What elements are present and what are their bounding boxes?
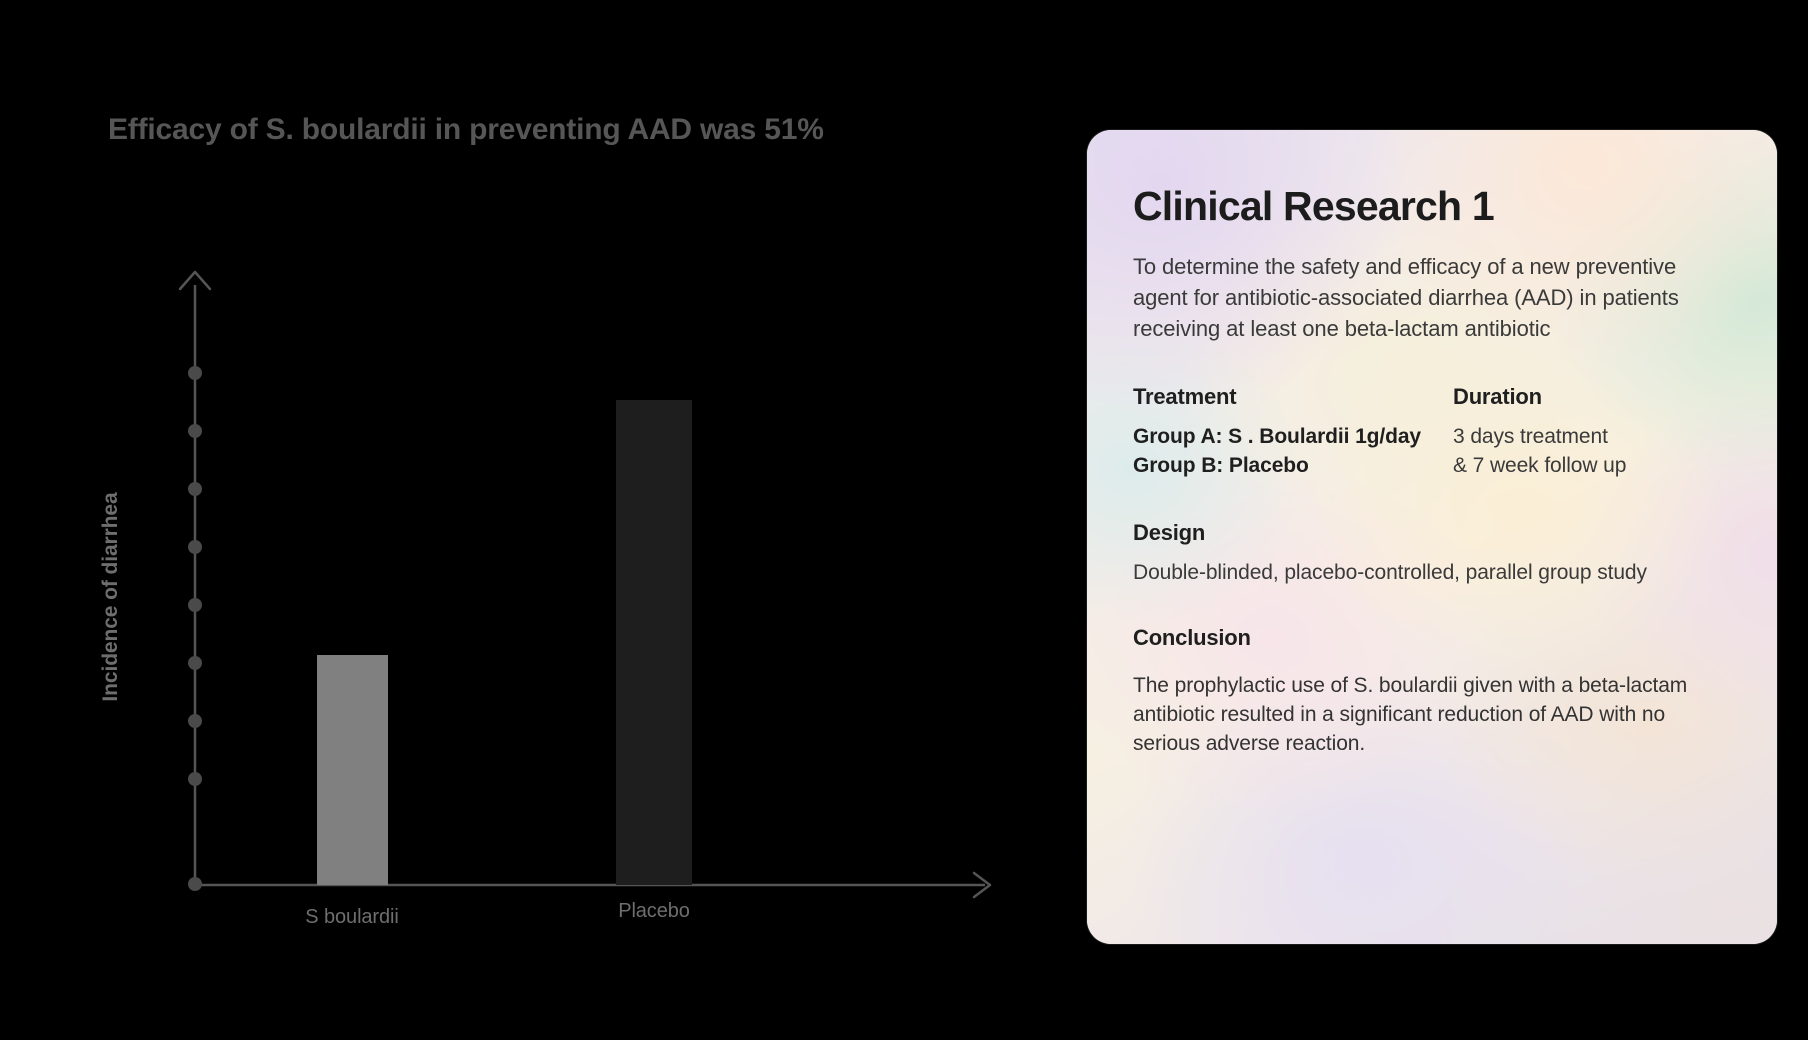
- card-content: Clinical Research 1 To determine the saf…: [1087, 130, 1777, 944]
- chart-axes: [0, 0, 1060, 1040]
- bar-chart-panel: Efficacy of S. boulardii in preventing A…: [0, 0, 1060, 1040]
- treatment-group-b: Group B: Placebo: [1133, 451, 1453, 480]
- y-axis-label: Incidence of diarrhea: [99, 447, 123, 747]
- duration-line-2: & 7 week follow up: [1453, 451, 1731, 480]
- treatment-duration-row: Treatment Group A: S . Boulardii 1g/day …: [1133, 384, 1731, 480]
- chart-title: Efficacy of S. boulardii in preventing A…: [108, 113, 824, 147]
- x-tick-label-placebo: Placebo: [554, 900, 754, 923]
- x-axis-arrowhead: [974, 873, 990, 897]
- x-tick-label-s-boulardii: S boulardii: [252, 906, 452, 929]
- duration-column: Duration 3 days treatment & 7 week follo…: [1453, 384, 1731, 480]
- card-title: Clinical Research 1: [1133, 184, 1731, 229]
- bar-s-boulardii: [317, 655, 388, 885]
- conclusion-body: The prophylactic use of S. boulardii giv…: [1133, 671, 1731, 758]
- design-heading: Design: [1133, 520, 1731, 546]
- treatment-column: Treatment Group A: S . Boulardii 1g/day …: [1133, 384, 1453, 480]
- bar-placebo: [616, 400, 692, 885]
- conclusion-heading: Conclusion: [1133, 625, 1731, 651]
- duration-heading: Duration: [1453, 384, 1731, 410]
- design-body: Double-blinded, placebo-controlled, para…: [1133, 558, 1653, 587]
- y-axis-arrowhead: [180, 272, 210, 289]
- treatment-group-a: Group A: S . Boulardii 1g/day: [1133, 422, 1453, 451]
- clinical-research-card: Clinical Research 1 To determine the saf…: [1087, 130, 1777, 944]
- duration-line-1: 3 days treatment: [1453, 422, 1731, 451]
- y-axis-tick-dots: [188, 366, 202, 891]
- card-objective-text: To determine the safety and efficacy of …: [1133, 251, 1683, 344]
- design-section: Design Double-blinded, placebo-controlle…: [1133, 520, 1731, 587]
- treatment-heading: Treatment: [1133, 384, 1453, 410]
- conclusion-section: Conclusion The prophylactic use of S. bo…: [1133, 625, 1731, 758]
